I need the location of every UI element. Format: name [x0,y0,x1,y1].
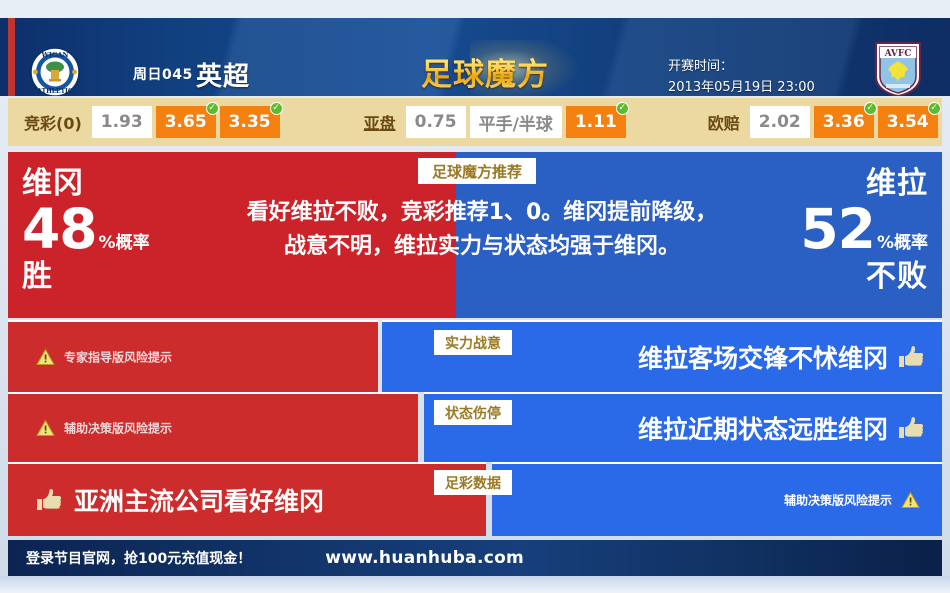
footer-website-url[interactable]: www.huanhuba.com [325,548,524,568]
row-tab-form-injury: 状态伤停 [434,400,512,425]
odds-value: 1.11 [575,112,617,132]
header-accent-bar [8,18,15,96]
warning-icon [36,420,55,437]
row-insight-text: 维拉客场交锋不怵维冈 [638,339,924,375]
check-icon: ✓ [270,102,283,115]
row-insight-text: 亚洲主流公司看好维冈 [36,482,324,518]
odds-cell[interactable]: 0.75 [406,106,466,138]
odds-cell[interactable]: 3.54 ✓ [878,106,938,138]
odds-cell[interactable]: 1.11 ✓ [566,106,626,138]
odds-value: 1.93 [101,112,143,132]
risk-notice-text: 辅助决策版风险提示 [784,492,892,509]
odds-value: 平手/半球 [479,110,553,135]
odds-value: 3.36 [823,112,865,132]
odds-value: 2.02 [759,112,801,132]
svg-text:ATHLETIC: ATHLETIC [36,88,73,95]
row-insight-label: 维拉近期状态远胜维冈 [638,410,888,446]
away-stats: 维拉 52 %概率 不败 [800,166,928,295]
row-insight-label: 亚洲主流公司看好维冈 [74,482,324,518]
row-red-area: 辅助决策版风险提示 [8,392,418,462]
home-stats: 维冈 48 %概率 胜 [22,166,150,295]
wigan-athletic-crest-icon: WIGAN ATHLETIC [27,46,83,96]
bottom-gradient [0,576,950,593]
away-outcome: 不败 [800,259,928,295]
check-icon: ✓ [864,102,877,115]
risk-notice-text: 专家指导版风险提示 [64,349,172,366]
thumbs-up-icon [898,416,924,440]
odds-value: 3.54 [887,112,929,132]
home-percent-value: 48 [22,202,97,257]
check-icon: ✓ [206,102,219,115]
league-name: 英超 [196,56,250,93]
recommendation-text: 看好维拉不败，竞彩推荐1、0。维冈提前降级，战意不明，维拉实力与状态均强于维冈。 [236,196,728,264]
aston-villa-crest-icon: AVFC [872,40,924,96]
odds-value: 3.35 [229,112,271,132]
risk-notice-assistant: 辅助决策版风险提示 [36,420,172,437]
odds-group-label: 亚盘 [364,110,396,134]
match-number: 周日045 [133,64,193,84]
kickoff-time: 2013年05月19日 23:00 [668,77,815,96]
page-footer: 登录节目官网，抢100元充值现金！ www.huanhuba.com [8,540,942,576]
brand-logo-text: 足球魔方 [421,49,549,94]
row-blue-area: 辅助决策版风险提示 [492,462,942,536]
warning-icon [36,349,55,366]
row-tab-lottery-data: 足彩数据 [434,470,512,495]
thumbs-up-icon [36,488,62,512]
odds-group-label: 竞彩(0) [24,110,82,134]
kickoff-info: 开赛时间： 2013年05月19日 23:00 [668,56,815,96]
svg-text:WIGAN: WIGAN [41,51,69,59]
svg-text:AVFC: AVFC [884,49,912,59]
home-percent-row: 48 %概率 [22,202,150,257]
row-red-area: 专家指导版风险提示 [8,320,378,392]
kickoff-label: 开赛时间： [668,56,815,77]
page-header: WIGAN ATHLETIC 周日045 英超 足球魔方 开赛时间： 2013年… [0,18,950,96]
recommendation-tab: 足球魔方推荐 [418,158,536,184]
odds-cell[interactable]: 3.65 ✓ [156,106,216,138]
match-preview-page: WIGAN ATHLETIC 周日045 英超 足球魔方 开赛时间： 2013年… [0,0,950,593]
warning-icon [901,492,920,509]
odds-cell[interactable]: 2.02 [750,106,810,138]
odds-group-jingcai: 竞彩(0) 1.93 3.65 ✓ 3.35 ✓ [24,106,284,138]
check-icon: ✓ [928,102,941,115]
home-outcome: 胜 [22,259,150,295]
odds-group-yapan: 亚盘 0.75 平手/半球 1.11 ✓ [364,106,630,138]
risk-notice-expert: 专家指导版风险提示 [36,349,172,366]
check-icon: ✓ [616,102,629,115]
thumbs-up-icon [898,345,924,369]
risk-notice-text: 辅助决策版风险提示 [64,420,172,437]
away-percent-label: %概率 [877,235,928,252]
odds-cell[interactable]: 1.93 [92,106,152,138]
odds-value: 3.65 [165,112,207,132]
footer-promo: 登录节目官网，抢100元充值现金！ [26,548,251,568]
odds-cell[interactable]: 平手/半球 [470,106,562,138]
row-tab-strength-intent: 实力战意 [434,330,512,355]
row-insight-label: 维拉客场交锋不怵维冈 [638,339,888,375]
risk-notice-assistant: 辅助决策版风险提示 [784,492,920,509]
away-percent-row: 52 %概率 [800,202,928,257]
brand-logo: 足球魔方 [415,48,555,94]
odds-bar: 竞彩(0) 1.93 3.65 ✓ 3.35 ✓ 亚盘 0.75 平手/半球 [8,98,942,146]
row-insight-text: 维拉近期状态远胜维冈 [638,410,924,446]
row-red-area: 亚洲主流公司看好维冈 [8,462,486,536]
odds-group-label: 欧赔 [708,110,740,134]
odds-cell[interactable]: 3.36 ✓ [814,106,874,138]
away-percent-value: 52 [800,202,875,257]
home-percent-label: %概率 [99,235,150,252]
odds-cell[interactable]: 3.35 ✓ [220,106,280,138]
odds-group-oupei: 欧赔 2.02 3.36 ✓ 3.54 ✓ [708,106,942,138]
odds-value: 0.75 [415,112,457,132]
